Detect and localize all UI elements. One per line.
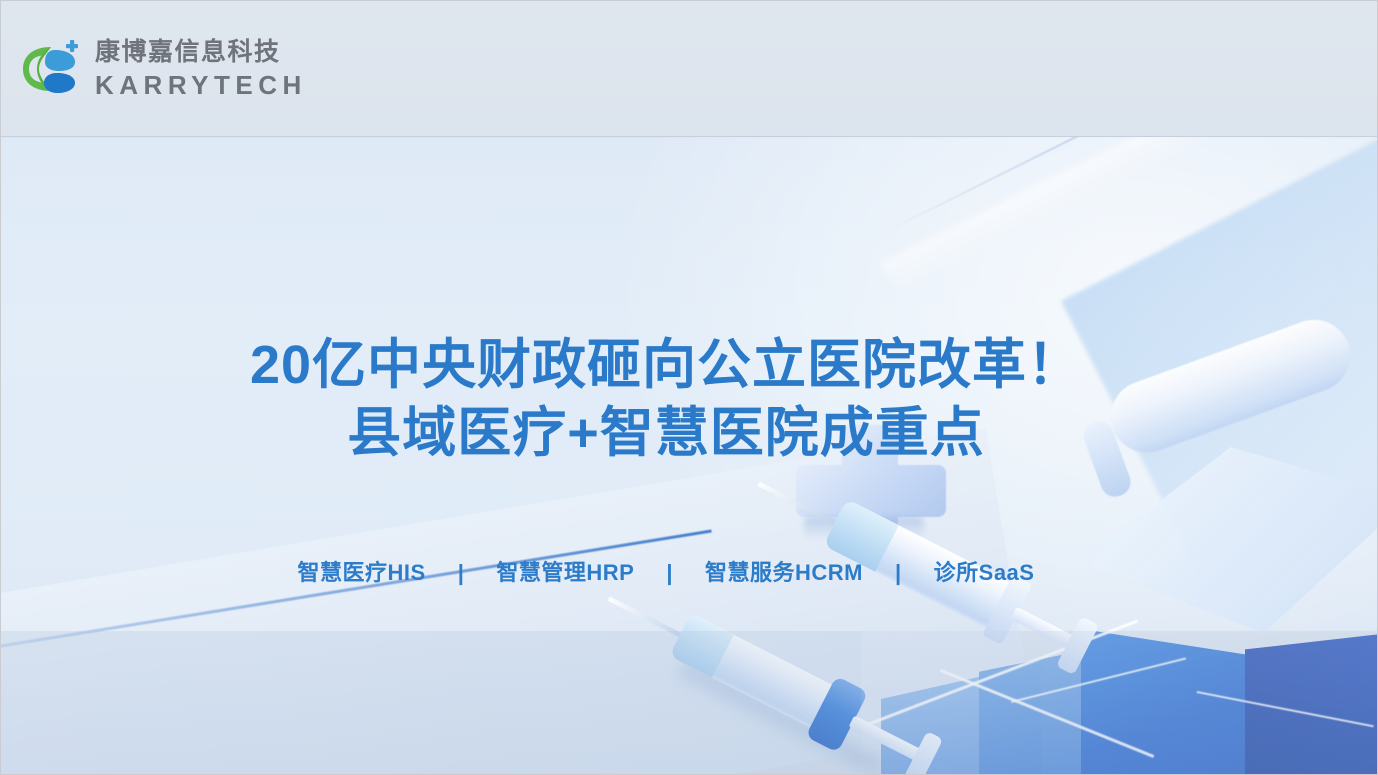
presentation-slide: 康博嘉信息科技 KARRYTECH 20亿中央财政砸向公立医院改革！ 县域医疗+… bbox=[0, 0, 1378, 775]
karrytech-logo-icon bbox=[15, 38, 81, 100]
tagline-his: 智慧医疗HIS bbox=[292, 555, 432, 587]
brand-logo[interactable]: 康博嘉信息科技 KARRYTECH bbox=[15, 38, 307, 100]
tagline-separator: | bbox=[640, 560, 699, 586]
slide-content: 20亿中央财政砸向公立医院改革！ 县域医疗+智慧医院成重点 智慧医疗HIS | … bbox=[1, 137, 1377, 774]
tagline-separator: | bbox=[432, 560, 491, 586]
hero-title-line-1: 20亿中央财政砸向公立医院改革！ bbox=[1, 331, 1331, 399]
brand-logo-text: 康博嘉信息科技 KARRYTECH bbox=[95, 40, 307, 98]
hero-title: 20亿中央财政砸向公立医院改革！ 县域医疗+智慧医院成重点 bbox=[1, 331, 1331, 467]
brand-name-en: KARRYTECH bbox=[95, 72, 307, 98]
slide-header: 康博嘉信息科技 KARRYTECH bbox=[1, 1, 1377, 137]
tagline-hrp: 智慧管理HRP bbox=[490, 555, 640, 587]
brand-name-cn: 康博嘉信息科技 bbox=[95, 40, 307, 65]
tagline-saas: 诊所SaaS bbox=[928, 555, 1041, 587]
product-tagline-row: 智慧医疗HIS | 智慧管理HRP | 智慧服务HCRM | 诊所SaaS bbox=[1, 555, 1331, 587]
hero-title-line-2: 县域医疗+智慧医院成重点 bbox=[1, 399, 1331, 467]
tagline-hcrm: 智慧服务HCRM bbox=[699, 555, 869, 587]
tagline-separator: | bbox=[869, 560, 928, 586]
